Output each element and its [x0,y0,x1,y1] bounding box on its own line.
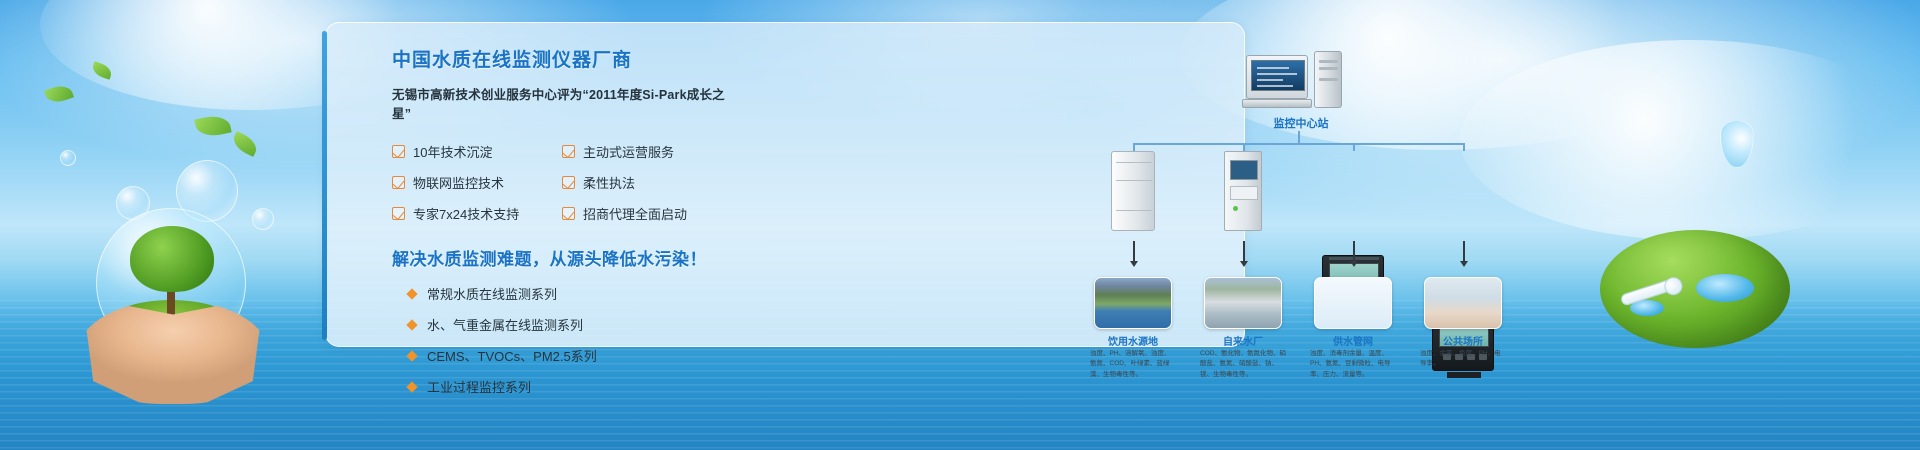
connector-line [1133,143,1135,151]
flow-arrow-head [1240,261,1248,267]
diamond-bullet-icon [406,288,417,299]
checklist-item: 专家7x24技术支持 [392,204,562,223]
application-description: 浊度、PH、溶解氧、浊度、氨氮、COD、叶绿素、蓝绿藻、生物毒性等。 [1090,349,1176,380]
device-led [1233,206,1238,211]
device-panel [1230,186,1258,200]
tree-crown [130,226,214,292]
checkbox-icon [392,145,405,158]
keyboard-icon [1242,99,1312,108]
earth-ball [1600,230,1790,348]
checklist-item-label: 物联网监控技术 [413,173,504,192]
list-item: CEMS、TVOCs、PM2.5系列 [392,346,742,365]
monitoring-center-computer-icon [1246,55,1351,117]
application-caption: 饮用水源地 [1085,333,1181,348]
connector-line [1353,143,1355,151]
checklist-item: 招商代理全面启动 [562,204,732,223]
bubble-decoration [60,150,76,166]
flow-arrow-line [1133,241,1135,263]
monitor-icon [1246,55,1308,99]
checkbox-icon [392,207,405,220]
flow-arrow-head [1130,261,1138,267]
device-monitoring-station-cabinet [1224,151,1262,231]
checklist-item-label: 10年技术沉淀 [413,142,492,161]
feature-checklist: 10年技术沉淀 主动式运营服务 物联网监控技术 柔性执法 专家7x24技术支持 … [392,142,742,223]
panel-left-column: 中国水质在线监测仪器厂商 无锡市高新技术创业服务中心评为“2011年度Si-Pa… [392,45,742,408]
checklist-item-label: 招商代理全面启动 [583,204,687,223]
monitoring-center-label: 监控中心站 [1231,115,1371,131]
connector-line [1133,143,1463,145]
flow-arrow-head [1460,261,1468,267]
page-subtitle: 无锡市高新技术创业服务中心评为“2011年度Si-Park成长之星” [392,84,742,122]
application-photo-pipe-network [1314,277,1392,329]
connector-line [1298,131,1300,143]
system-architecture-diagram: 监控中心站 [1081,49,1511,349]
checklist-item: 主动式运营服务 [562,142,732,161]
section-headline: 解决水质监测难题，从源头降低水污染！ [392,245,742,270]
list-item-label: CEMS、TVOCs、PM2.5系列 [427,346,597,365]
computer-tower-icon [1314,51,1342,108]
flow-arrow-line [1463,241,1465,263]
monitor-screen [1251,60,1305,91]
list-item-label: 水、气重金属在线监测系列 [427,315,583,334]
application-description: 浊度、余氯、色度、PH、电导率。 [1420,349,1506,370]
diamond-bullet-icon [406,381,417,392]
flow-arrow-line [1243,241,1245,263]
checklist-item: 柔性执法 [562,173,732,192]
checkbox-icon [562,207,575,220]
checklist-item-label: 主动式运营服务 [583,142,674,161]
earth-lake [1696,274,1754,302]
application-description: COD、氨化物、氨氮化物、硝酸盐、氨氮、硝酸盐、钠、镁、生物毒性等。 [1200,349,1286,380]
flow-arrow-head [1350,261,1358,267]
checkbox-icon [392,176,405,189]
list-item-label: 工业过程监控系列 [427,377,531,396]
diamond-bullet-icon [406,319,417,330]
application-photo-waterworks [1204,277,1282,329]
hands-holding-globe-illustration [78,208,268,398]
list-item: 水、气重金属在线监测系列 [392,315,742,334]
checklist-item-label: 柔性执法 [583,173,635,192]
application-photo-public-place [1424,277,1502,329]
connector-line [1463,143,1465,151]
checklist-item-label: 专家7x24技术支持 [413,204,519,223]
application-caption: 自来水厂 [1195,333,1291,348]
checklist-item: 物联网监控技术 [392,173,562,192]
application-photo-source-water [1094,277,1172,329]
product-series-list: 常规水质在线监测系列 水、气重金属在线监测系列 CEMS、TVOCs、PM2.5… [392,284,742,396]
device-screen [1230,160,1258,180]
application-caption: 公共场所 [1415,333,1511,348]
hands-shape [78,300,268,404]
list-item: 常规水质在线监测系列 [392,284,742,303]
page-title: 中国水质在线监测仪器厂商 [392,45,742,72]
checklist-item: 10年技术沉淀 [392,142,562,161]
list-item: 工业过程监控系列 [392,377,742,396]
list-item-label: 常规水质在线监测系列 [427,284,557,303]
flow-arrow-line [1353,241,1355,263]
application-caption: 供水管网 [1305,333,1401,348]
diamond-bullet-icon [406,350,417,361]
checkbox-icon [562,145,575,158]
content-panel: 中国水质在线监测仪器厂商 无锡市高新技术创业服务中心评为“2011年度Si-Pa… [325,22,1245,347]
application-description: 浊度、消毒剂余量、温度、PH、氨氮、豆剩微粒、电导率、压力、流量等。 [1310,349,1396,380]
device-stand [1447,372,1481,378]
connector-line [1243,143,1245,151]
checkbox-icon [562,176,575,189]
device-water-analyzer-cabinet [1111,151,1155,231]
